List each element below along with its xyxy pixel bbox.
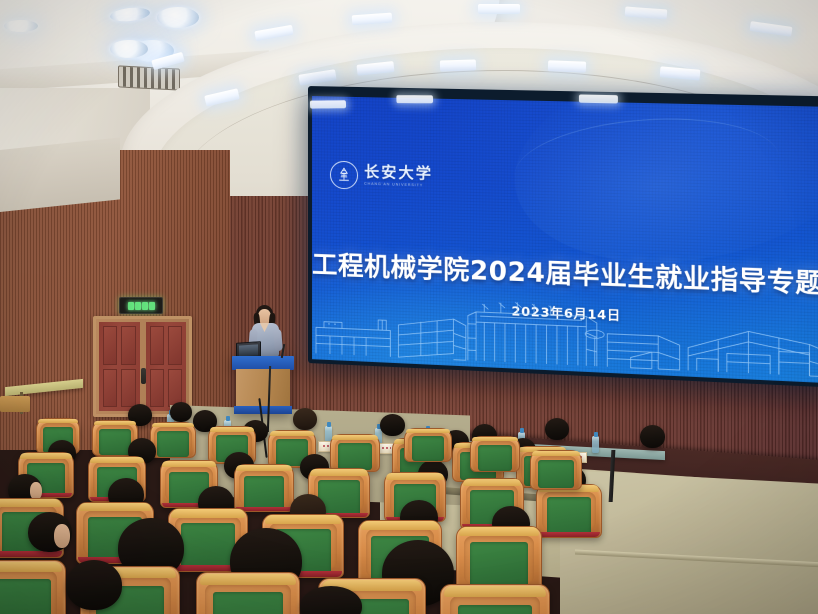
- university-logo: 长安大学 CHANG'AN UNIVERSITY: [330, 161, 433, 192]
- door-leaf-right[interactable]: [146, 322, 187, 411]
- audience-head: [170, 402, 192, 422]
- screen-reflection: [396, 95, 433, 103]
- audience-head: [545, 418, 569, 440]
- side-chair: [0, 396, 30, 412]
- downlight-icon: [157, 7, 199, 28]
- university-name-cn: 长安大学: [364, 165, 433, 182]
- exit-sign-lamp-icon: [142, 302, 148, 310]
- panel-light-icon: [548, 60, 586, 72]
- seat[interactable]: [0, 560, 66, 614]
- exit-sign-lamp-icon: [149, 302, 155, 310]
- auditorium-photo: 长安大学 CHANG'AN UNIVERSITY 工程机械学院2024届毕业生就…: [0, 0, 818, 614]
- screen-reflection: [579, 94, 618, 103]
- audience-head-foreground: [28, 512, 72, 552]
- downlight-icon: [4, 20, 38, 32]
- university-name-en: CHANG'AN UNIVERSITY: [364, 183, 433, 189]
- door-leaf-left[interactable]: [99, 322, 140, 411]
- lectern: [232, 356, 294, 416]
- seat[interactable]: [440, 584, 550, 614]
- air-vent-grille-icon: [118, 65, 180, 90]
- door-panel: [103, 369, 117, 408]
- exit-sign-lamp-icon: [128, 302, 134, 310]
- audience-face: [54, 524, 70, 548]
- audience-head-foreground: [66, 560, 122, 610]
- audience-head: [380, 414, 405, 436]
- screen-reflection: [310, 100, 346, 108]
- seat[interactable]: [330, 434, 380, 472]
- audience-head: [293, 408, 317, 430]
- lectern-base: [234, 406, 292, 414]
- panel-light-icon: [478, 4, 520, 14]
- wall-left-upper: [0, 137, 120, 212]
- panel-light-icon: [440, 59, 476, 71]
- seat[interactable]: [150, 422, 196, 458]
- seat[interactable]: [404, 428, 452, 462]
- exit-sign-lamp-icon: [135, 302, 141, 310]
- door-panel: [150, 326, 164, 365]
- seat[interactable]: [470, 436, 520, 472]
- seat[interactable]: [530, 450, 582, 490]
- seat[interactable]: [196, 572, 300, 614]
- laptop-screen: [239, 344, 258, 356]
- university-crest-icon: [330, 161, 358, 190]
- water-bottle[interactable]: [592, 436, 599, 453]
- door-panel: [103, 326, 117, 365]
- seat[interactable]: [234, 464, 294, 512]
- audience-head: [640, 425, 665, 448]
- door-panel: [168, 326, 182, 365]
- led-presentation-screen: 长安大学 CHANG'AN UNIVERSITY 工程机械学院2024届毕业生就…: [308, 86, 818, 388]
- exit-sign: [119, 297, 163, 314]
- seat[interactable]: [536, 484, 602, 538]
- door-panel: [150, 369, 164, 408]
- downlight-icon: [110, 40, 148, 58]
- lectern-body: [236, 369, 290, 407]
- door-handle-icon[interactable]: [141, 368, 146, 384]
- door-panel: [121, 369, 135, 408]
- door-panel: [121, 326, 135, 365]
- slide-surface: 长安大学 CHANG'AN UNIVERSITY 工程机械学院2024届毕业生就…: [312, 96, 818, 383]
- lectern-top: [232, 356, 294, 370]
